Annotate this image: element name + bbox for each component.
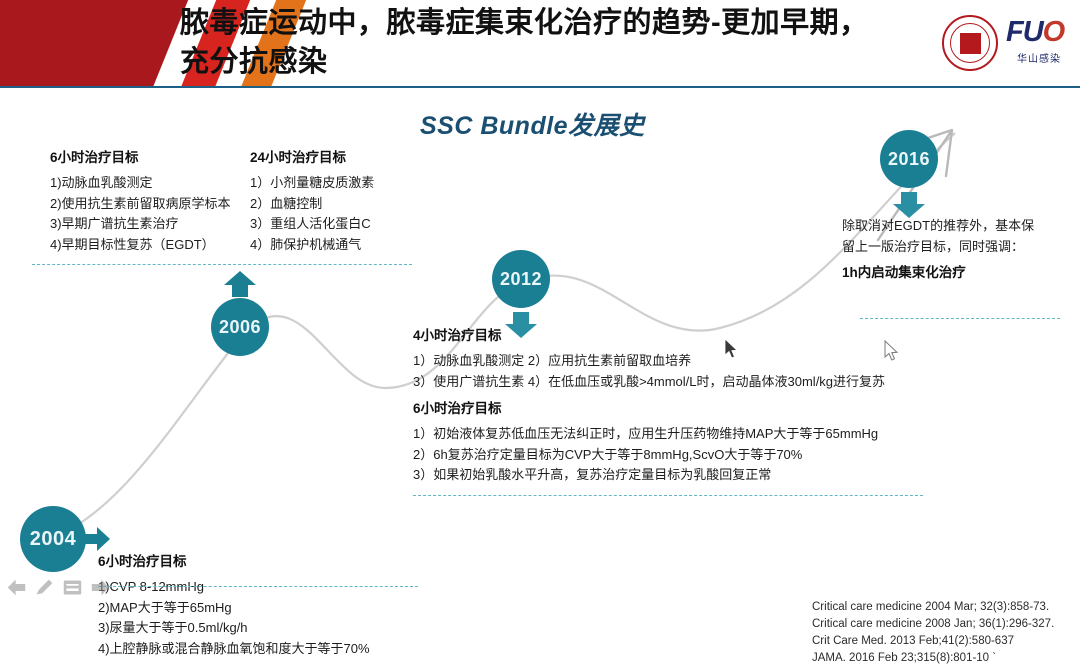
block-2012-6h-line-2: 2）6h复苏治疗定量目标为CVP大于等于8mmHg,ScvO大于等于70%	[413, 445, 885, 466]
block-2006-left-line-1: 1)动脉血乳酸测定	[50, 173, 231, 194]
references-list: Critical care medicine 2004 Mar; 32(3):8…	[812, 599, 1054, 667]
reference-4: JAMA. 2016 Feb 23;315(8):801-10 `	[812, 650, 1054, 667]
reference-3: Crit Care Med. 2013 Feb;41(2):580-637	[812, 633, 1054, 650]
block-2016-line-2: 留上一版治疗目标，同时强调：	[842, 237, 1034, 258]
block-2006-left-heading: 6小时治疗目标	[50, 146, 231, 166]
block-2016-line-1: 除取消对EGDT的推荐外，基本保	[842, 216, 1034, 237]
fudan-logo: FUO 华山感染	[1006, 13, 1070, 73]
block-2006-right-heading: 24小时治疗目标	[250, 146, 374, 166]
milestone-2004[interactable]: 2004	[20, 506, 86, 572]
block-2004-line-3: 3)尿量大于等于0.5ml/kg/h	[98, 618, 370, 639]
block-2006-right-line-2: 2）血糖控制	[250, 194, 374, 215]
block-2006-left: 6小时治疗目标 1)动脉血乳酸测定 2)使用抗生素前留取病原学标本 3)早期广谱…	[50, 146, 231, 255]
block-2006-left-line-3: 3)早期广谱抗生素治疗	[50, 214, 231, 235]
block-2012-heading-4h: 4小时治疗目标	[413, 324, 885, 344]
block-2004-line-2: 2)MAP大于等于65mHg	[98, 598, 370, 619]
slide-canvas: SSC Bundle发展史 2004 6小时治疗目标 1)CVP 8-12mmH…	[0, 88, 1080, 602]
milestone-2006[interactable]: 2006	[211, 298, 269, 356]
block-2004-line-1: 1)CVP 8-12mmHg	[98, 577, 370, 598]
slide-header: 脓毒症运动中，脓毒症集束化治疗的趋势-更加早期，充分抗感染 FUO 华山感染	[0, 0, 1080, 88]
block-2006-right: 24小时治疗目标 1）小剂量糖皮质激素 2）血糖控制 3）重组人活化蛋白C 4）…	[250, 146, 374, 255]
block-2012-4h-line-2: 3）使用广谱抗生素 4）在低血压或乳酸>4mmol/L时，启动晶体液30ml/k…	[413, 372, 885, 393]
next-arrow-icon[interactable]	[90, 577, 111, 598]
block-2012-6h-line-1: 1）初始液体复苏低血压无法纠正时，应用生升压药物维持MAP大于等于65mmHg	[413, 424, 885, 445]
block-2016: 除取消对EGDT的推荐外，基本保 留上一版治疗目标，同时强调： 1h内启动集束化…	[842, 216, 1034, 288]
block-2012-4h-line-1: 1）动脉血乳酸测定 2）应用抗生素前留取血培养	[413, 351, 885, 372]
block-2006-left-line-4: 4)早期目标性复苏（EGDT）	[50, 235, 231, 256]
block-2006-right-line-1: 1）小剂量糖皮质激素	[250, 173, 374, 194]
milestone-2016[interactable]: 2016	[880, 130, 938, 188]
pen-icon[interactable]	[34, 577, 55, 598]
header-logos: FUO 华山感染	[934, 5, 1074, 83]
seal-inner-mark	[960, 33, 981, 54]
milestone-2006-arrow-icon	[222, 269, 258, 299]
fudan-logo-o: O	[1043, 16, 1065, 48]
fudan-logo-subtitle: 华山感染	[1008, 50, 1070, 65]
previous-arrow-icon[interactable]	[6, 577, 27, 598]
block-2012-6h-line-3: 3）如果初始乳酸水平升高，复苏治疗定量目标为乳酸回复正常	[413, 465, 885, 486]
block-2012-divider	[413, 495, 923, 496]
block-2004: 6小时治疗目标 1)CVP 8-12mmHg 2)MAP大于等于65mHg 3)…	[98, 550, 370, 659]
slide-toolbar	[6, 575, 116, 599]
milestone-2012[interactable]: 2012	[492, 250, 550, 308]
block-2006-right-line-3: 3）重组人活化蛋白C	[250, 214, 374, 235]
block-2004-line-4: 4)上腔静脉或混合静脉血氧饱和度大于等于70%	[98, 639, 370, 660]
block-2004-divider	[98, 586, 418, 587]
header-red-block	[0, 0, 192, 88]
block-2016-divider	[860, 318, 1060, 319]
block-2012: 4小时治疗目标 1）动脉血乳酸测定 2）应用抗生素前留取血培养 3）使用广谱抗生…	[413, 324, 885, 486]
university-seal-icon	[942, 15, 998, 71]
fudan-logo-fu: FU	[1006, 16, 1043, 48]
block-2006-divider	[32, 264, 412, 265]
block-2012-heading-6h: 6小时治疗目标	[413, 397, 885, 417]
reference-2: Critical care medicine 2008 Jan; 36(1):2…	[812, 616, 1054, 633]
block-2006-left-line-2: 2)使用抗生素前留取病原学标本	[50, 194, 231, 215]
block-2006-right-line-4: 4）肺保护机械通气	[250, 235, 374, 256]
fudan-logo-mark: FUO	[1006, 15, 1070, 49]
block-2004-heading: 6小时治疗目标	[98, 550, 370, 570]
slide-menu-icon[interactable]	[62, 577, 83, 598]
block-2016-emphasis: 1h内启动集束化治疗	[842, 261, 1034, 281]
page-title: 脓毒症运动中，脓毒症集束化治疗的趋势-更加早期，充分抗感染	[180, 4, 880, 82]
